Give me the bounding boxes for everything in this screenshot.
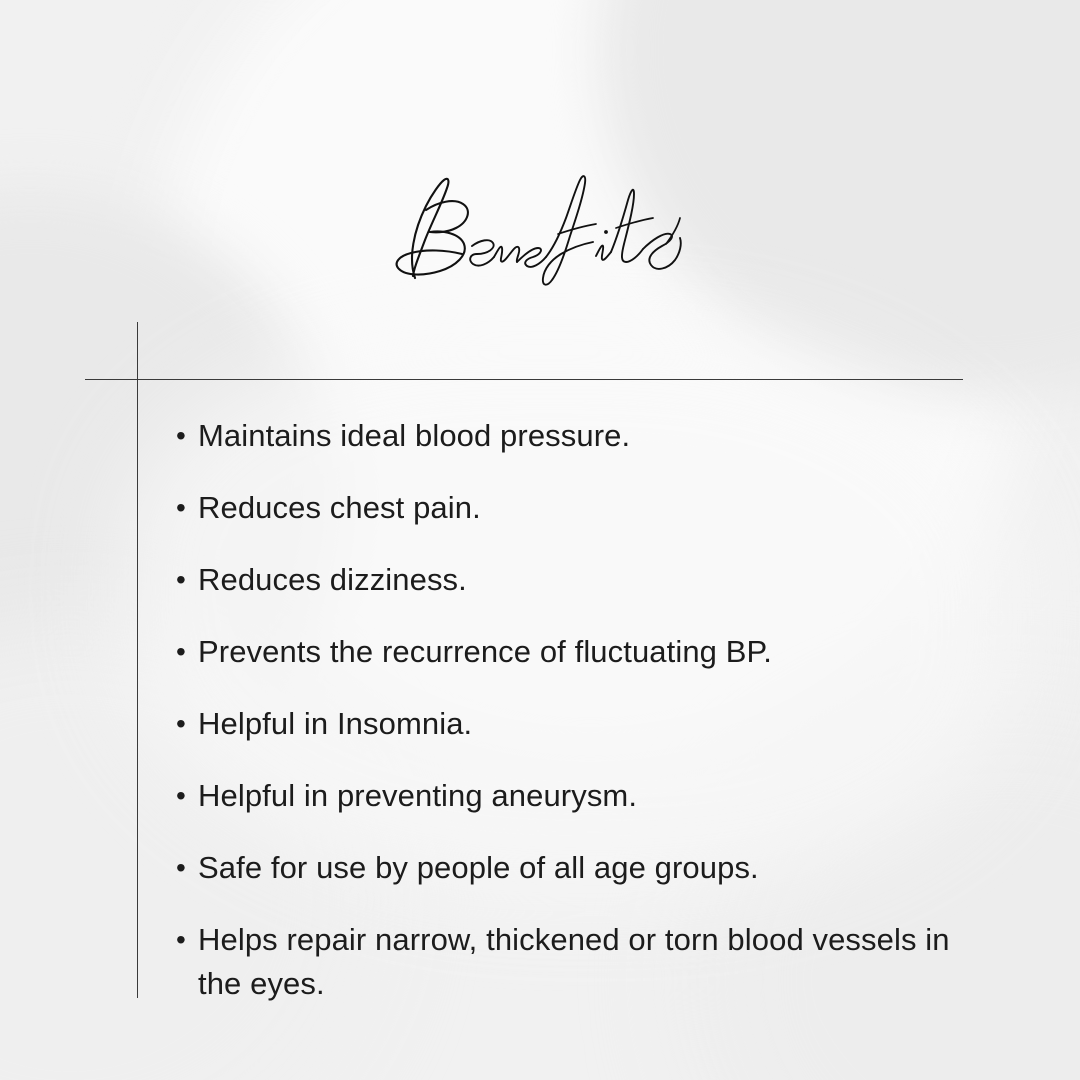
list-item: • Reduces dizziness. — [176, 558, 966, 602]
list-item-label: Prevents the recurrence of fluctuating B… — [198, 630, 966, 674]
bullet-icon: • — [176, 558, 198, 602]
list-item-label: Safe for use by people of all age groups… — [198, 846, 966, 890]
benefits-list: • Maintains ideal blood pressure. • Redu… — [176, 414, 966, 1006]
list-item: • Helpful in preventing aneurysm. — [176, 774, 966, 818]
page-title — [0, 166, 1080, 296]
list-item: • Helps repair narrow, thickened or torn… — [176, 918, 966, 1006]
list-item-label: Helps repair narrow, thickened or torn b… — [198, 918, 966, 1006]
list-item: • Reduces chest pain. — [176, 486, 966, 530]
list-item-label: Maintains ideal blood pressure. — [198, 414, 966, 458]
list-item: • Maintains ideal blood pressure. — [176, 414, 966, 458]
bullet-icon: • — [176, 918, 198, 962]
bullet-icon: • — [176, 774, 198, 818]
bullet-icon: • — [176, 486, 198, 530]
list-item: • Prevents the recurrence of fluctuating… — [176, 630, 966, 674]
list-item: • Helpful in Insomnia. — [176, 702, 966, 746]
benefits-poster: • Maintains ideal blood pressure. • Redu… — [0, 0, 1080, 1080]
bullet-icon: • — [176, 630, 198, 674]
horizontal-rule — [85, 379, 963, 380]
bullet-icon: • — [176, 702, 198, 746]
list-item-label: Reduces chest pain. — [198, 486, 966, 530]
list-item-label: Helpful in Insomnia. — [198, 702, 966, 746]
bullet-icon: • — [176, 846, 198, 890]
bullet-icon: • — [176, 414, 198, 458]
list-item-label: Helpful in preventing aneurysm. — [198, 774, 966, 818]
page-title-script-art — [380, 166, 700, 296]
vertical-rule — [137, 322, 138, 998]
list-item: • Safe for use by people of all age grou… — [176, 846, 966, 890]
list-item-label: Reduces dizziness. — [198, 558, 966, 602]
